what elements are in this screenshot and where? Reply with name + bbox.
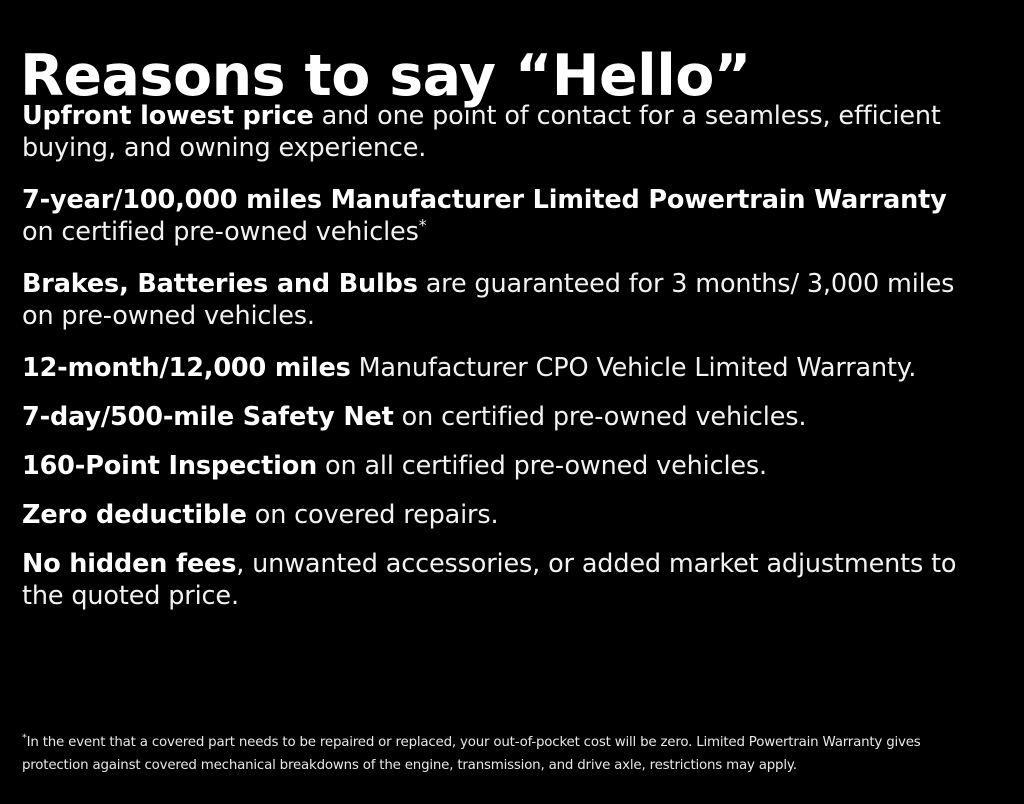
list-item: 12-month/12,000 miles Manufacturer CPO V… [22,352,966,384]
list-item-text: on covered repairs. [247,500,499,530]
list-item-lead: Upfront lowest price [22,101,314,131]
footnote-text: In the event that a covered part needs t… [22,735,921,773]
footnote-marker-icon: * [419,216,427,235]
list-item-lead: Brakes, Batteries and Bulbs [22,269,418,299]
list-item-text: on certified pre-owned vehicles. [394,402,807,432]
list-item: 160-Point Inspection on all certified pr… [22,450,966,482]
slide-canvas: Reasons to say “Hello” Upfront lowest pr… [0,0,1024,804]
reasons-list: Upfront lowest price and one point of co… [22,100,966,632]
list-item: Zero deductible on covered repairs. [22,499,966,531]
list-item-text: Manufacturer CPO Vehicle Limited Warrant… [351,353,917,383]
list-item: 7-day/500-mile Safety Net on certified p… [22,401,966,433]
list-item: 7-year/100,000 miles Manufacturer Limite… [22,184,966,248]
list-item-text: on certified pre-owned vehicles [22,217,419,247]
list-item-lead: Zero deductible [22,500,247,530]
footnote: *In the event that a covered part needs … [22,731,982,777]
list-item-lead: 160-Point Inspection [22,451,317,481]
list-item-lead: 7-year/100,000 miles Manufacturer Limite… [22,185,947,215]
list-item: Brakes, Batteries and Bulbs are guarante… [22,268,966,332]
list-item-lead: 12-month/12,000 miles [22,353,351,383]
list-item-text: on all certified pre-owned vehicles. [317,451,767,481]
list-item-lead: No hidden fees [22,549,236,579]
list-item: No hidden fees, unwanted accessories, or… [22,548,966,612]
list-item-lead: 7-day/500-mile Safety Net [22,402,394,432]
list-item: Upfront lowest price and one point of co… [22,100,966,164]
